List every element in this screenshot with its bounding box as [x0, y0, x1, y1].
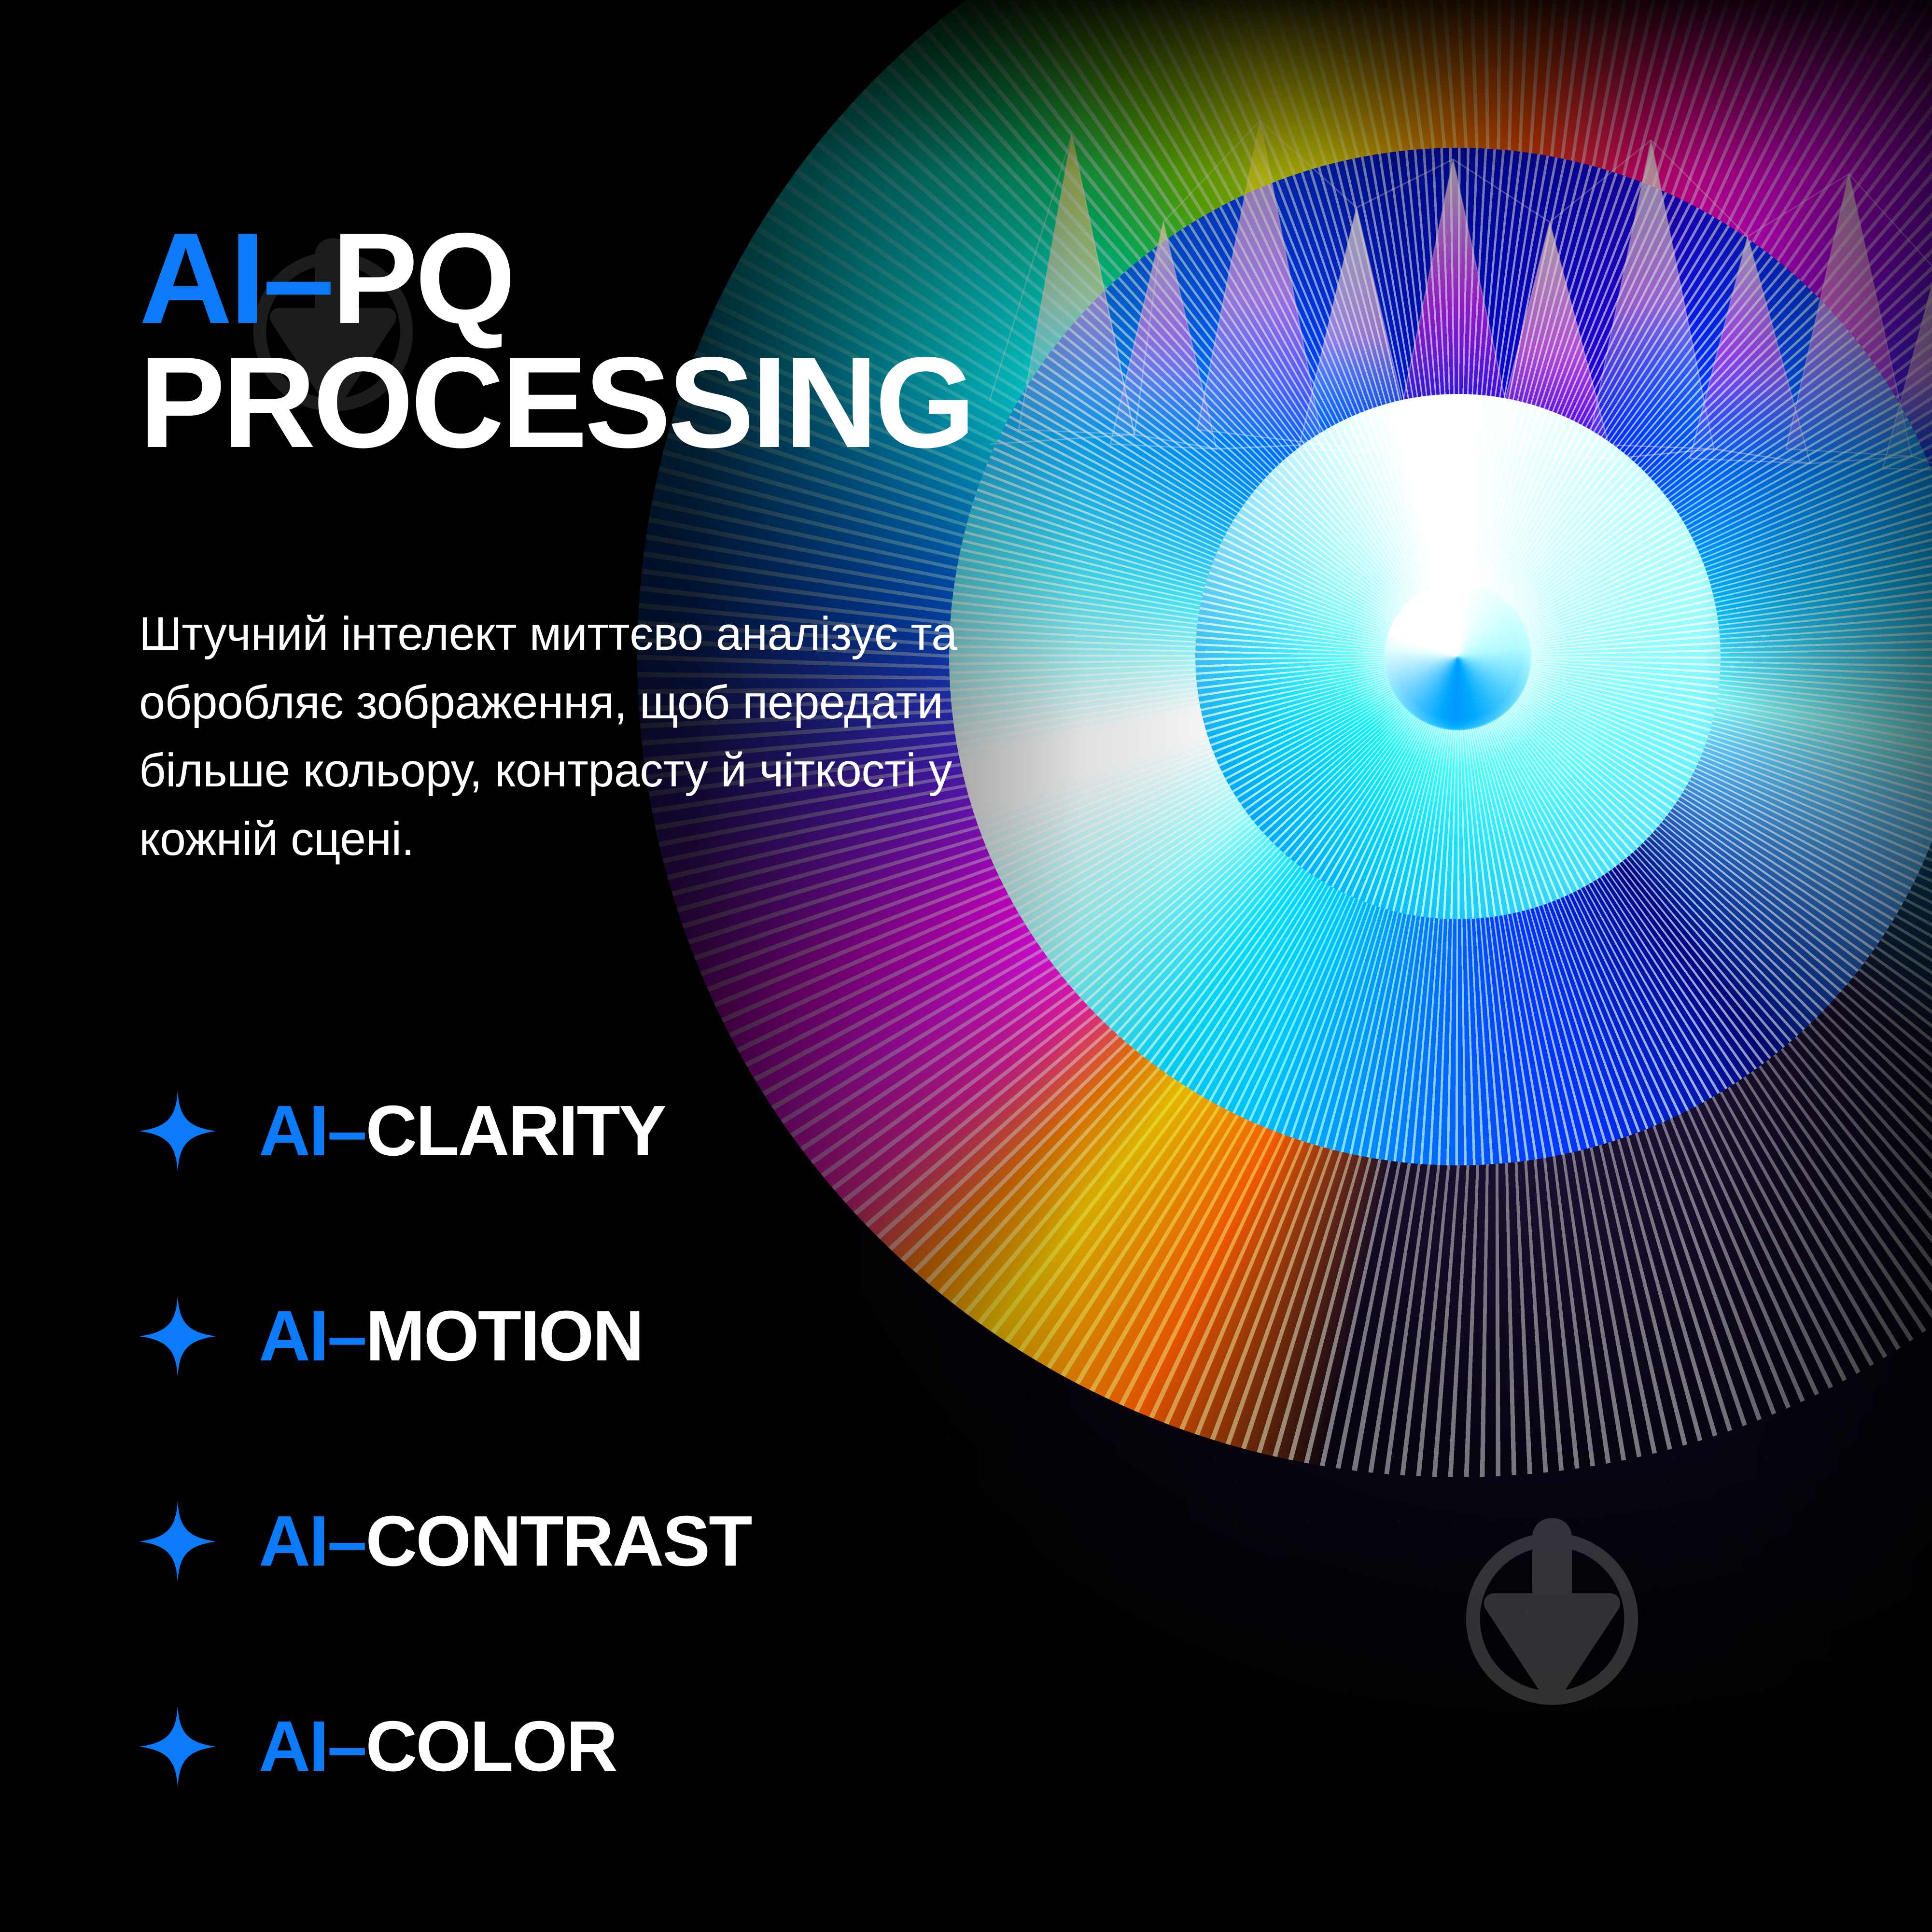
headline-line-2: PROCESSING [139, 340, 1298, 464]
feature-name: MOTION [365, 1296, 643, 1376]
list-item: AI–CONTRAST [139, 1439, 1201, 1644]
feature-name: CONTRAST [365, 1501, 751, 1581]
headline-line-1-rest: PQ [332, 206, 513, 350]
headline-accent: AI– [139, 206, 332, 350]
feature-label: AI–CLARITY [259, 1095, 665, 1167]
feature-label: AI–CONTRAST [259, 1506, 751, 1577]
sparkle-icon [139, 1090, 216, 1172]
feature-accent: AI– [259, 1707, 365, 1786]
poster-canvas: AI–PQ PROCESSING Штучний інтелект миттєв… [0, 0, 1932, 1932]
feature-name: CLARITY [365, 1091, 665, 1171]
feature-label: AI–COLOR [259, 1711, 616, 1782]
feature-accent: AI– [259, 1091, 365, 1171]
sparkle-icon [139, 1706, 216, 1788]
feature-list: AI–CLARITY AI–MOTION AI–CONTRAST AI–COLO… [139, 1028, 1201, 1849]
headline-line-1: AI–PQ [139, 216, 1298, 340]
list-item: AI–COLOR [139, 1644, 1201, 1849]
list-item: AI–MOTION [139, 1233, 1201, 1439]
feature-accent: AI– [259, 1501, 365, 1581]
sparkle-icon [139, 1500, 216, 1582]
poster-content: AI–PQ PROCESSING Штучний інтелект миттєв… [0, 0, 1932, 1932]
description-paragraph: Штучний інтелект миттєво аналізує та обр… [139, 600, 1056, 873]
page-title: AI–PQ PROCESSING [139, 216, 1298, 465]
feature-accent: AI– [259, 1296, 365, 1376]
feature-name: COLOR [365, 1707, 616, 1786]
feature-label: AI–MOTION [259, 1301, 643, 1372]
sparkle-icon [139, 1295, 216, 1377]
list-item: AI–CLARITY [139, 1028, 1201, 1233]
